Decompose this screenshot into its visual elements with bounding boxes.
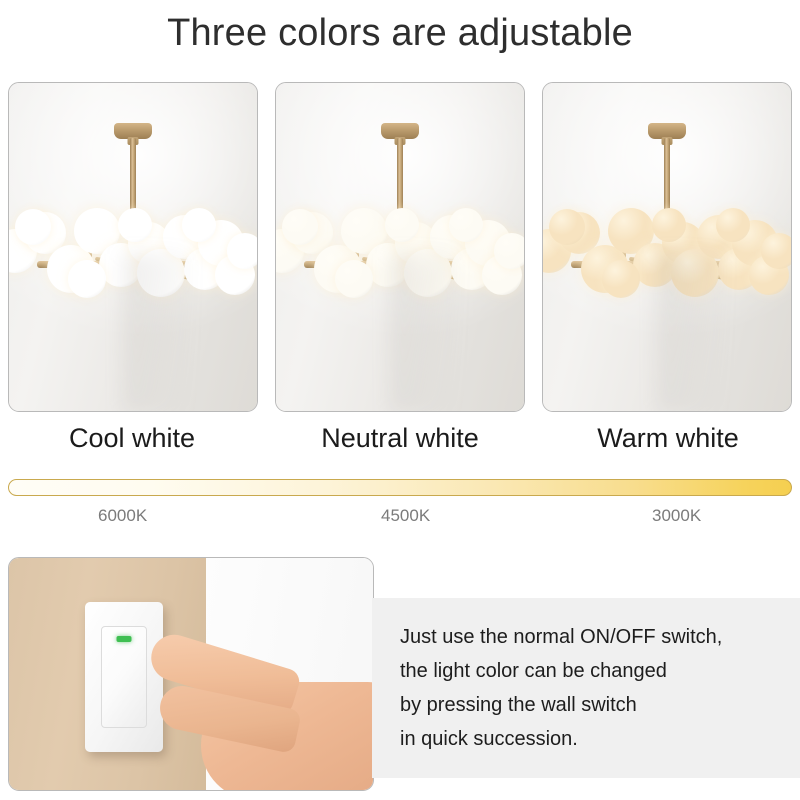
swatch-panel-neutral-white[interactable] bbox=[275, 82, 525, 412]
product-feature-page: Three colors are adjustable bbox=[0, 0, 800, 800]
glass-globe bbox=[602, 260, 640, 298]
kelvin-tick-4500k: 4500K bbox=[381, 504, 430, 528]
socket-node bbox=[679, 253, 688, 264]
swatch-label-warm-white: Warm white bbox=[544, 420, 792, 458]
color-swatch-row bbox=[8, 82, 792, 410]
description-line-3: by pressing the wall switch bbox=[400, 688, 800, 722]
swatch-panel-cool-white[interactable] bbox=[8, 82, 258, 412]
glass-globe bbox=[118, 208, 152, 242]
chandelier-cool-white-photo bbox=[9, 83, 257, 411]
glass-globe bbox=[137, 249, 185, 297]
glass-globe bbox=[671, 249, 719, 297]
description-line-2: the light color can be changed bbox=[400, 654, 800, 688]
glass-globe bbox=[761, 233, 792, 269]
description-line-4: in quick succession. bbox=[400, 722, 800, 756]
chandelier-neutral-white-photo bbox=[276, 83, 524, 411]
swatch-label-cool-white: Cool white bbox=[8, 420, 256, 458]
description-line-1: Just use the normal ON/OFF switch, bbox=[400, 620, 800, 654]
swatch-label-row: Cool white Neutral white Warm white bbox=[8, 420, 792, 458]
glass-globe bbox=[68, 260, 106, 298]
glass-globe bbox=[449, 208, 483, 242]
description-panel: Just use the normal ON/OFF switch, the l… bbox=[372, 598, 800, 778]
color-temperature-gradient-bar[interactable] bbox=[8, 479, 792, 496]
socket-node bbox=[412, 253, 421, 264]
ceiling-canopy bbox=[114, 123, 152, 139]
glass-globe bbox=[282, 209, 318, 245]
glass-globe bbox=[652, 208, 686, 242]
hand-illustration bbox=[149, 638, 374, 791]
glass-globe bbox=[227, 233, 258, 269]
glass-globe bbox=[404, 249, 452, 297]
kelvin-tick-3000k: 3000K bbox=[652, 504, 701, 528]
color-temperature-tick-row: 6000K 4500K 3000K bbox=[0, 504, 800, 530]
page-title: Three colors are adjustable bbox=[0, 6, 800, 60]
glass-globe bbox=[494, 233, 525, 269]
led-indicator-icon bbox=[117, 636, 132, 642]
chandelier-warm-white-photo bbox=[543, 83, 791, 411]
ceiling-canopy bbox=[648, 123, 686, 139]
wall-switch-photo bbox=[8, 557, 374, 791]
glass-globe bbox=[549, 209, 585, 245]
ceiling-canopy bbox=[381, 123, 419, 139]
glass-globe bbox=[716, 208, 750, 242]
switch-rocker[interactable] bbox=[101, 626, 147, 728]
kelvin-tick-6000k: 6000K bbox=[98, 504, 147, 528]
glass-globe bbox=[15, 209, 51, 245]
swatch-panel-warm-white[interactable] bbox=[542, 82, 792, 412]
swatch-label-neutral-white: Neutral white bbox=[276, 420, 524, 458]
glass-globe bbox=[335, 260, 373, 298]
glass-globe bbox=[385, 208, 419, 242]
socket-node bbox=[145, 253, 154, 264]
glass-globe bbox=[182, 208, 216, 242]
